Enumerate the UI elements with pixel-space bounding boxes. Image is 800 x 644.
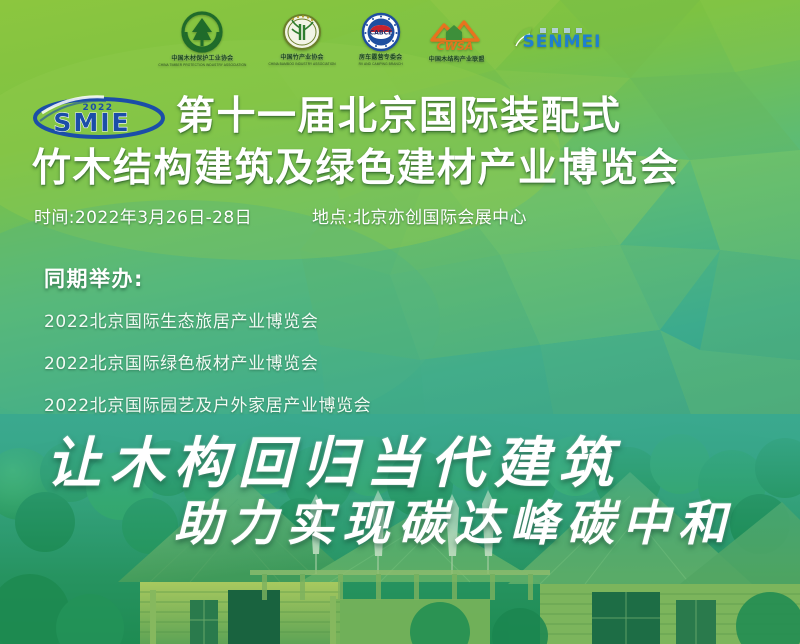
concurrent-events-title: 同期举办: [44,263,371,293]
smie-brand-logo: 2022 SMIE [30,93,168,141]
bamboo-oval-icon [280,12,324,54]
senmei-logo[interactable]: SENMEI [510,22,602,56]
tree-shield-icon [178,11,226,55]
concurrent-events-block: 同期举办: 2022北京国际生态旅居产业博览会 2022北京国际绿色板材产业博览… [44,263,371,433]
house-cwsa-icon: CWSA [426,14,488,56]
concurrent-event-item: 2022北京国际生态旅居产业博览会 [44,307,371,332]
svg-text:CWSA: CWSA [436,40,473,53]
sponsor-logo-strip: 中国木材保护工业协会 CHINA TIMBER PROTECTION INDUS… [0,0,800,78]
leaf-wordmark-icon: SENMEI [510,22,602,56]
event-meta-row: 时间:2022年3月26日-28日 地点:北京亦创国际会展中心 [34,203,760,228]
cwsa-wood-structure-alliance-label: 中国木结构产业联盟 [429,57,485,63]
headline-line-1: 第十一届北京国际装配式 [176,93,622,141]
china-timber-protection-association-sublabel: CHINA TIMBER PROTECTION INDUSTRY ASSOCIA… [158,63,246,67]
china-timber-protection-association-logo[interactable]: 中国木材保护工业协会 CHINA TIMBER PROTECTION INDUS… [158,11,246,66]
event-date: 时间:2022年3月26日-28日 [34,203,252,228]
bamboo-industry-association-logo[interactable]: 中国竹产业协会 CHINA BAMBOO INDUSTRY ASSOCIATIO… [268,12,335,65]
cwsa-wood-structure-alliance-logo[interactable]: CWSA 中国木结构产业联盟 [426,14,488,63]
event-venue: 地点:北京亦创国际会展中心 [312,203,527,228]
bamboo-industry-association-sublabel: CHINA BAMBOO INDUSTRY ASSOCIATION [268,62,335,66]
exhibition-poster: 中国木材保护工业协会 CHINA TIMBER PROTECTION INDUS… [0,0,800,644]
smie-wordmark-text: SMIE [53,108,130,137]
headline-block: 2022 SMIE 第十一届北京国际装配式 竹木结构建筑及绿色建材产业博览会 [0,92,800,193]
cabce-badge-icon: CABCE [358,12,404,54]
concurrent-event-item: 2022北京国际园艺及户外家居产业博览会 [44,391,371,416]
cabce-rv-camping-committee-sublabel: RV AND CAMPING BRANCH [359,62,403,66]
concurrent-event-item: 2022北京国际绿色板材产业博览会 [44,349,371,374]
headline-line-2: 竹木结构建筑及绿色建材产业博览会 [30,145,800,193]
slogan-line-2: 助力实现碳达峰碳中和 [174,484,734,554]
svg-text:CABCE: CABCE [369,30,392,37]
svg-text:SENMEI: SENMEI [522,32,601,52]
cabce-rv-camping-committee-logo[interactable]: CABCE 房车露营专委会 RV AND CAMPING BRANCH [358,12,404,65]
